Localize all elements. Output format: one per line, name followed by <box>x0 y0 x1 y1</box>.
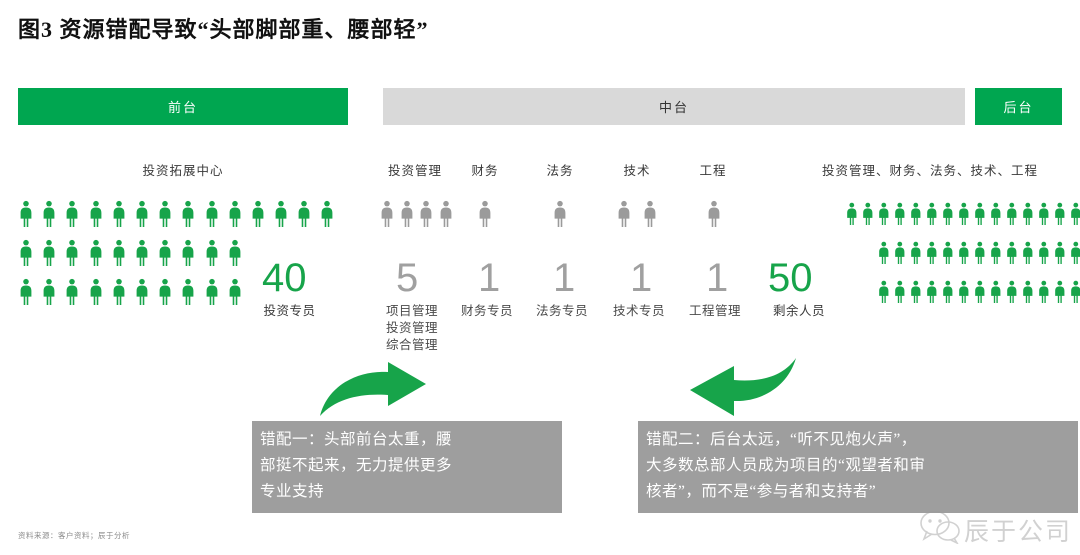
person-icon <box>227 200 243 227</box>
person-figure <box>64 200 80 232</box>
number-finance: 1 <box>478 258 500 298</box>
column-header-engineering: 工程 <box>683 160 743 179</box>
watermark: 辰于公司 <box>920 510 1072 549</box>
person-icon <box>877 200 891 227</box>
callout-one-line3: 专业支持 <box>260 479 554 505</box>
person-figure <box>989 239 1003 271</box>
bar-middle-office: 中台 <box>383 88 965 125</box>
person-icon <box>941 239 955 266</box>
people-group-finance <box>477 200 497 239</box>
person-figure <box>957 200 971 232</box>
person-icon <box>909 200 923 227</box>
person-icon <box>1037 239 1051 266</box>
person-icon <box>941 278 955 305</box>
person-icon <box>925 278 939 305</box>
number-back: 50 <box>768 258 813 298</box>
caption-back: 剩余人员 <box>761 303 837 320</box>
person-icon <box>18 278 34 305</box>
people-row <box>706 200 726 232</box>
caption-finance: 财务专员 <box>452 303 522 320</box>
person-icon <box>250 200 266 227</box>
bar-back-office-label: 后台 <box>1003 97 1033 116</box>
person-figure <box>973 239 987 271</box>
person-figure <box>180 278 196 310</box>
person-figure <box>1021 200 1035 232</box>
bar-front-office-label: 前台 <box>168 97 198 116</box>
people-row <box>552 200 572 232</box>
person-figure <box>1053 200 1067 232</box>
person-icon <box>296 200 312 227</box>
person-figure <box>227 200 243 232</box>
person-icon <box>111 239 127 266</box>
person-figure <box>88 239 104 271</box>
person-icon <box>1021 200 1035 227</box>
callout-one-line2: 部挺不起来，无力提供更多 <box>260 453 554 479</box>
person-icon <box>925 239 939 266</box>
person-figure <box>893 239 907 271</box>
bar-back-office: 后台 <box>975 88 1062 125</box>
person-icon <box>64 278 80 305</box>
person-figure <box>438 200 454 232</box>
caption-front: 投资专员 <box>237 303 342 320</box>
infographic-canvas: 图3 资源错配导致“头部脚部重、腰部轻” 前台 中台 后台 投资拓展中心 投资管… <box>0 0 1080 555</box>
people-group-tech <box>616 200 668 239</box>
bar-middle-office-label: 中台 <box>659 97 689 116</box>
caption-invest-mgmt: 项目管理 投资管理 综合管理 <box>370 303 454 354</box>
arrow-left-curved-icon <box>688 356 798 418</box>
person-figure <box>319 200 335 232</box>
person-figure <box>134 200 150 232</box>
column-header-back: 投资管理、财务、法务、技术、工程 <box>790 160 1070 179</box>
person-icon <box>1037 200 1051 227</box>
column-header-front: 投资拓展中心 <box>103 160 263 179</box>
person-figure <box>399 200 415 232</box>
person-icon <box>893 200 907 227</box>
people-row <box>379 200 457 232</box>
person-figure <box>227 239 243 271</box>
number-legal: 1 <box>553 258 575 298</box>
person-figure <box>845 200 859 232</box>
person-figure <box>909 239 923 271</box>
person-icon <box>227 239 243 266</box>
person-figure <box>989 278 1003 310</box>
person-figure <box>616 200 632 232</box>
person-figure <box>379 200 395 232</box>
person-icon <box>64 200 80 227</box>
person-figure <box>18 200 34 232</box>
person-icon <box>157 239 173 266</box>
person-icon <box>877 239 891 266</box>
person-icon <box>642 200 658 227</box>
person-icon <box>180 239 196 266</box>
person-icon <box>1021 239 1035 266</box>
person-icon <box>88 239 104 266</box>
person-figure <box>204 239 220 271</box>
person-figure <box>1021 278 1035 310</box>
number-engineering: 1 <box>706 258 728 298</box>
person-icon <box>973 200 987 227</box>
source-note: 资料来源：客户资料；辰于分析 <box>18 530 130 541</box>
caption-invest-mgmt-line3: 综合管理 <box>370 337 454 354</box>
person-icon <box>41 200 57 227</box>
person-icon <box>41 239 57 266</box>
person-icon <box>111 278 127 305</box>
person-icon <box>1069 200 1080 227</box>
people-row <box>845 200 1080 232</box>
people-group-back-office <box>845 200 1080 317</box>
person-icon <box>379 200 395 227</box>
person-figure <box>1005 278 1019 310</box>
number-invest-mgmt: 5 <box>396 258 418 298</box>
person-icon <box>1005 239 1019 266</box>
people-group-legal <box>552 200 572 239</box>
person-figure <box>877 200 891 232</box>
callout-two-line3: 核者”，而不是“参与者和支持者” <box>646 479 1070 505</box>
person-figure <box>157 239 173 271</box>
person-figure <box>989 200 1003 232</box>
number-front: 40 <box>262 258 307 298</box>
person-figure <box>1005 239 1019 271</box>
person-icon <box>180 278 196 305</box>
person-figure <box>296 200 312 232</box>
person-figure <box>134 239 150 271</box>
person-icon <box>204 200 220 227</box>
person-figure <box>941 239 955 271</box>
person-icon <box>893 239 907 266</box>
person-icon <box>909 239 923 266</box>
person-icon <box>204 278 220 305</box>
person-figure <box>1021 239 1035 271</box>
person-figure <box>157 200 173 232</box>
person-icon <box>957 278 971 305</box>
person-icon <box>18 239 34 266</box>
person-icon <box>438 200 454 227</box>
person-figure <box>925 239 939 271</box>
person-icon <box>399 200 415 227</box>
person-figure <box>1069 239 1080 271</box>
person-figure <box>1069 200 1080 232</box>
person-figure <box>18 239 34 271</box>
person-figure <box>1069 278 1080 310</box>
person-icon <box>41 278 57 305</box>
person-figure <box>1053 278 1067 310</box>
column-header-finance: 财务 <box>455 160 515 179</box>
callout-box-two: 错配二：后台太远，“听不见炮火声”， 大多数总部人员成为项目的“观望者和审 核者… <box>638 421 1078 513</box>
person-figure <box>893 200 907 232</box>
person-icon <box>552 200 568 227</box>
person-figure <box>18 278 34 310</box>
person-figure <box>957 239 971 271</box>
person-icon <box>418 200 434 227</box>
person-icon <box>319 200 335 227</box>
wechat-icon <box>920 510 960 549</box>
column-header-legal: 法务 <box>530 160 590 179</box>
person-figure <box>64 239 80 271</box>
person-figure <box>877 278 891 310</box>
people-group-engineering <box>706 200 726 239</box>
person-figure <box>642 200 658 232</box>
person-figure <box>1037 278 1051 310</box>
person-figure <box>477 200 493 232</box>
person-figure <box>909 278 923 310</box>
person-figure <box>909 200 923 232</box>
person-icon <box>845 200 859 227</box>
person-icon <box>1053 200 1067 227</box>
person-figure <box>41 278 57 310</box>
person-icon <box>88 200 104 227</box>
person-figure <box>204 278 220 310</box>
person-icon <box>18 200 34 227</box>
person-icon <box>989 200 1003 227</box>
person-icon <box>157 278 173 305</box>
person-icon <box>989 278 1003 305</box>
people-group-invest-mgmt <box>379 200 457 239</box>
person-icon <box>111 200 127 227</box>
person-figure <box>111 200 127 232</box>
column-header-tech: 技术 <box>607 160 667 179</box>
person-figure <box>273 200 289 232</box>
person-icon <box>1069 278 1080 305</box>
person-figure <box>64 278 80 310</box>
person-icon <box>134 239 150 266</box>
person-figure <box>1037 200 1051 232</box>
arrow-right-curved-icon <box>318 362 428 418</box>
person-figure <box>552 200 568 232</box>
person-figure <box>180 200 196 232</box>
person-icon <box>477 200 493 227</box>
caption-invest-mgmt-line1: 项目管理 <box>370 303 454 320</box>
person-figure <box>706 200 722 232</box>
people-row <box>616 200 668 232</box>
person-figure <box>957 278 971 310</box>
person-figure <box>88 278 104 310</box>
person-icon <box>88 278 104 305</box>
person-icon <box>1053 278 1067 305</box>
person-figure <box>1037 239 1051 271</box>
person-figure <box>134 278 150 310</box>
callout-one-line1: 错配一：头部前台太重，腰 <box>260 427 554 453</box>
person-icon <box>861 200 875 227</box>
callout-two-line1: 错配二：后台太远，“听不见炮火声”， <box>646 427 1070 453</box>
person-figure <box>941 200 955 232</box>
caption-legal: 法务专员 <box>527 303 597 320</box>
person-icon <box>957 239 971 266</box>
number-tech: 1 <box>630 258 652 298</box>
person-icon <box>64 239 80 266</box>
person-icon <box>925 200 939 227</box>
callout-two-line2: 大多数总部人员成为项目的“观望者和审 <box>646 453 1070 479</box>
person-figure <box>250 200 266 232</box>
people-row <box>18 200 343 232</box>
caption-engineering: 工程管理 <box>680 303 750 320</box>
person-icon <box>616 200 632 227</box>
person-icon <box>180 200 196 227</box>
person-figure <box>861 200 875 232</box>
watermark-text: 辰于公司 <box>964 512 1072 548</box>
person-figure <box>41 239 57 271</box>
person-icon <box>1005 200 1019 227</box>
person-figure <box>925 200 939 232</box>
bar-front-office: 前台 <box>18 88 348 125</box>
person-icon <box>941 200 955 227</box>
person-figure <box>111 239 127 271</box>
person-figure <box>1053 239 1067 271</box>
caption-tech: 技术专员 <box>604 303 674 320</box>
person-icon <box>973 278 987 305</box>
person-figure <box>204 200 220 232</box>
person-figure <box>925 278 939 310</box>
person-figure <box>877 239 891 271</box>
person-icon <box>1021 278 1035 305</box>
person-figure <box>180 239 196 271</box>
page-title: 图3 资源错配导致“头部脚部重、腰部轻” <box>18 12 429 44</box>
person-figure <box>111 278 127 310</box>
person-icon <box>157 200 173 227</box>
people-row <box>477 200 497 232</box>
person-figure <box>41 200 57 232</box>
person-icon <box>273 200 289 227</box>
callout-box-one: 错配一：头部前台太重，腰 部挺不起来，无力提供更多 专业支持 <box>252 421 562 513</box>
person-figure <box>1005 200 1019 232</box>
person-icon <box>909 278 923 305</box>
person-icon <box>1069 239 1080 266</box>
person-icon <box>877 278 891 305</box>
people-row <box>845 278 1080 310</box>
person-icon <box>204 239 220 266</box>
person-figure <box>157 278 173 310</box>
person-figure <box>973 200 987 232</box>
person-figure <box>88 200 104 232</box>
person-icon <box>1053 239 1067 266</box>
person-icon <box>893 278 907 305</box>
person-figure <box>418 200 434 232</box>
person-figure <box>973 278 987 310</box>
person-icon <box>989 239 1003 266</box>
person-icon <box>1037 278 1051 305</box>
caption-invest-mgmt-line2: 投资管理 <box>370 320 454 337</box>
person-icon <box>134 200 150 227</box>
column-header-invest-mgmt: 投资管理 <box>370 160 460 179</box>
person-icon <box>1005 278 1019 305</box>
person-icon <box>706 200 722 227</box>
person-icon <box>957 200 971 227</box>
person-icon <box>134 278 150 305</box>
person-icon <box>227 278 243 305</box>
person-figure <box>893 278 907 310</box>
person-figure <box>941 278 955 310</box>
person-icon <box>973 239 987 266</box>
people-row <box>845 239 1080 271</box>
